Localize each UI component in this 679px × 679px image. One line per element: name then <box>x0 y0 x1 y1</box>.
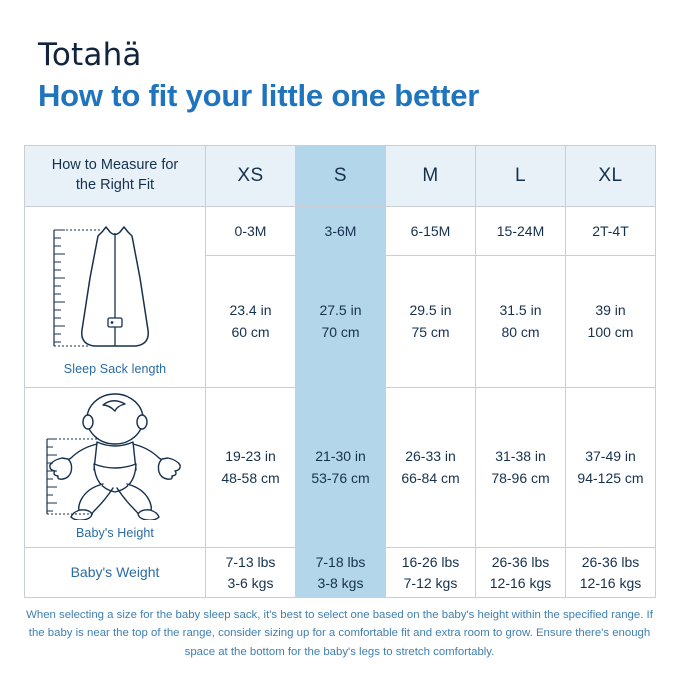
size-header-xl: XL <box>566 146 656 207</box>
height-m: 26-33 in 66-84 cm <box>386 388 476 548</box>
weight-s: 7-18 lbs 3-8 kgs <box>296 548 386 598</box>
measure-header: How to Measure for the Right Fit <box>25 146 206 207</box>
brand-logo: Totahä <box>38 27 142 71</box>
size-header-s: S <box>296 146 386 207</box>
age-xl: 2T-4T <box>566 207 656 256</box>
size-header-m: M <box>386 146 476 207</box>
table-header-row: How to Measure for the Right Fit XS S M … <box>25 146 656 207</box>
sleep-sack-icon <box>40 218 190 358</box>
length-m: 29.5 in 75 cm <box>386 256 476 388</box>
length-s: 27.5 in 70 cm <box>296 256 386 388</box>
weight-m: 16-26 lbs 7-12 kgs <box>386 548 476 598</box>
table-row-baby-weight: Baby's Weight 7-13 lbs 3-6 kgs 7-18 lbs … <box>25 548 656 598</box>
height-s: 21-30 in 53-76 cm <box>296 388 386 548</box>
size-header-xs: XS <box>206 146 296 207</box>
sleep-sack-illustration-cell: Sleep Sack length <box>25 207 206 388</box>
baby-height-label: Baby's Height <box>76 524 154 543</box>
weight-xl: 26-36 lbs 12-16 kgs <box>566 548 656 598</box>
baby-weight-label: Baby's Weight <box>25 548 206 598</box>
age-xs: 0-3M <box>206 207 296 256</box>
sleep-sack-label: Sleep Sack length <box>64 362 166 376</box>
age-l: 15-24M <box>476 207 566 256</box>
height-xl: 37-49 in 94-125 cm <box>566 388 656 548</box>
length-xl: 39 in 100 cm <box>566 256 656 388</box>
sizing-footnote: When selecting a size for the baby sleep… <box>22 606 657 661</box>
weight-xs: 7-13 lbs 3-6 kgs <box>206 548 296 598</box>
age-m: 6-15M <box>386 207 476 256</box>
age-s: 3-6M <box>296 207 386 256</box>
height-xs: 19-23 in 48-58 cm <box>206 388 296 548</box>
page-title: How to fit your little one better <box>38 78 479 114</box>
weight-l: 26-36 lbs 12-16 kgs <box>476 548 566 598</box>
length-l: 31.5 in 80 cm <box>476 256 566 388</box>
baby-illustration-cell: Baby's Height <box>25 388 206 548</box>
baby-icon <box>35 392 195 520</box>
brand-logo-text: Totahä <box>38 40 142 71</box>
table-row-age: Sleep Sack length 0-3M 3-6M 6-15M 15-24M… <box>25 207 656 256</box>
table-row-baby-height: Baby's Height 19-23 in 48-58 cm 21-30 in… <box>25 388 656 548</box>
height-l: 31-38 in 78-96 cm <box>476 388 566 548</box>
size-chart-table: How to Measure for the Right Fit XS S M … <box>24 145 656 598</box>
size-header-l: L <box>476 146 566 207</box>
length-xs: 23.4 in 60 cm <box>206 256 296 388</box>
